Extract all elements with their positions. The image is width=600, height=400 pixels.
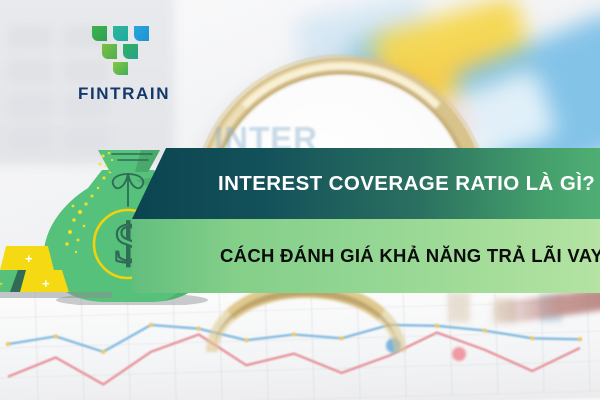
- calculator-key: [8, 94, 52, 116]
- gold-bars-icon: + + +: [0, 238, 114, 304]
- calculator-key: [8, 60, 52, 82]
- fintrain-triangle-logo-icon: [90, 24, 152, 76]
- primary-banner: INTEREST COVERAGE RATIO LÀ GÌ?: [132, 148, 600, 219]
- calculator-key: [8, 26, 52, 48]
- primary-banner-title: INTEREST COVERAGE RATIO LÀ GÌ?: [218, 172, 595, 196]
- sparkle-mark: +: [42, 276, 50, 291]
- brand-logo[interactable]: FINTRAIN: [78, 24, 164, 104]
- sparkle-mark: +: [25, 251, 33, 266]
- poster-canvas: INTER: [0, 0, 600, 400]
- secondary-banner-subtitle: CÁCH ĐÁNH GIÁ KHẢ NĂNG TRẢ LÃI VAY: [220, 245, 600, 267]
- secondary-banner: CÁCH ĐÁNH GIÁ KHẢ NĂNG TRẢ LÃI VAY: [132, 219, 600, 293]
- sparkle-mark: +: [0, 277, 3, 291]
- chart-legend-dot-red: [452, 347, 466, 361]
- brand-name: FINTRAIN: [78, 84, 164, 104]
